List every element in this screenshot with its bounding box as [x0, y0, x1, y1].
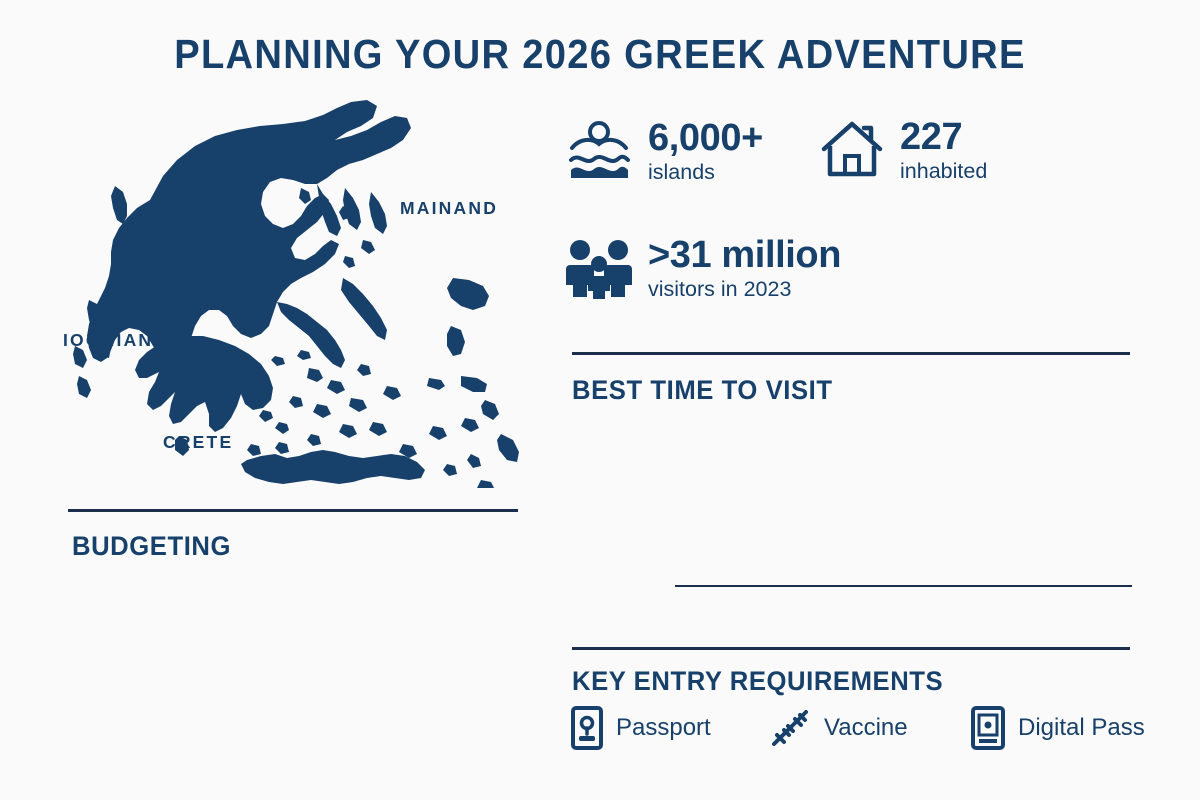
divider-best-time: [572, 352, 1130, 355]
divider-entry: [572, 647, 1130, 650]
map-label-mainland: MAINAND: [400, 198, 498, 219]
stat-inhabited: 227 inhabited: [820, 118, 987, 183]
vaccine-syringe-icon: [770, 706, 812, 750]
stat-value: 227: [900, 118, 987, 156]
heading-best-time-to-visit: BEST TIME TO VISIT: [572, 375, 833, 406]
page-title: PLANNING YOUR 2026 GREEK ADVENTURE: [42, 31, 1158, 78]
map-label-crete: CRETE: [163, 432, 233, 453]
stat-value: >31 million: [648, 236, 841, 274]
house-icon: [820, 119, 884, 181]
axis-line: [675, 585, 1132, 587]
greece-map: MAINAND IOONIAN CRETE: [55, 88, 555, 488]
islands-waves-icon: [566, 118, 632, 184]
chart-month-axis: [675, 585, 1132, 627]
entry-item-passport: Passport: [570, 706, 711, 750]
entry-label: Passport: [616, 714, 711, 742]
stat-label: visitors in 2023: [648, 279, 841, 301]
entry-label: Vaccine: [824, 714, 908, 742]
family-people-icon: [566, 237, 632, 299]
entry-item-vaccine: Vaccine: [770, 706, 908, 750]
entry-item-digital-pass: Digital Pass: [970, 706, 1145, 750]
heading-budgeting: BUDGETING: [72, 531, 231, 562]
stat-visitors: >31 million visitors in 2023: [566, 236, 841, 301]
entry-requirements-list: Passport Vaccine Digital Pass: [570, 706, 1170, 762]
stat-label: islands: [648, 162, 763, 184]
entry-label: Digital Pass: [1018, 714, 1145, 742]
map-label-ionian: IOONIAN: [63, 330, 153, 351]
stat-islands: 6,000+ islands: [566, 118, 763, 184]
stat-label: inhabited: [900, 161, 987, 183]
stat-value: 6,000+: [648, 119, 763, 157]
heading-key-entry-requirements: KEY ENTRY REQUIREMENTS: [572, 666, 943, 697]
greece-map-shape: [55, 88, 555, 488]
divider-budget: [68, 509, 518, 512]
passport-icon: [570, 706, 604, 750]
digital-pass-icon: [970, 706, 1006, 750]
